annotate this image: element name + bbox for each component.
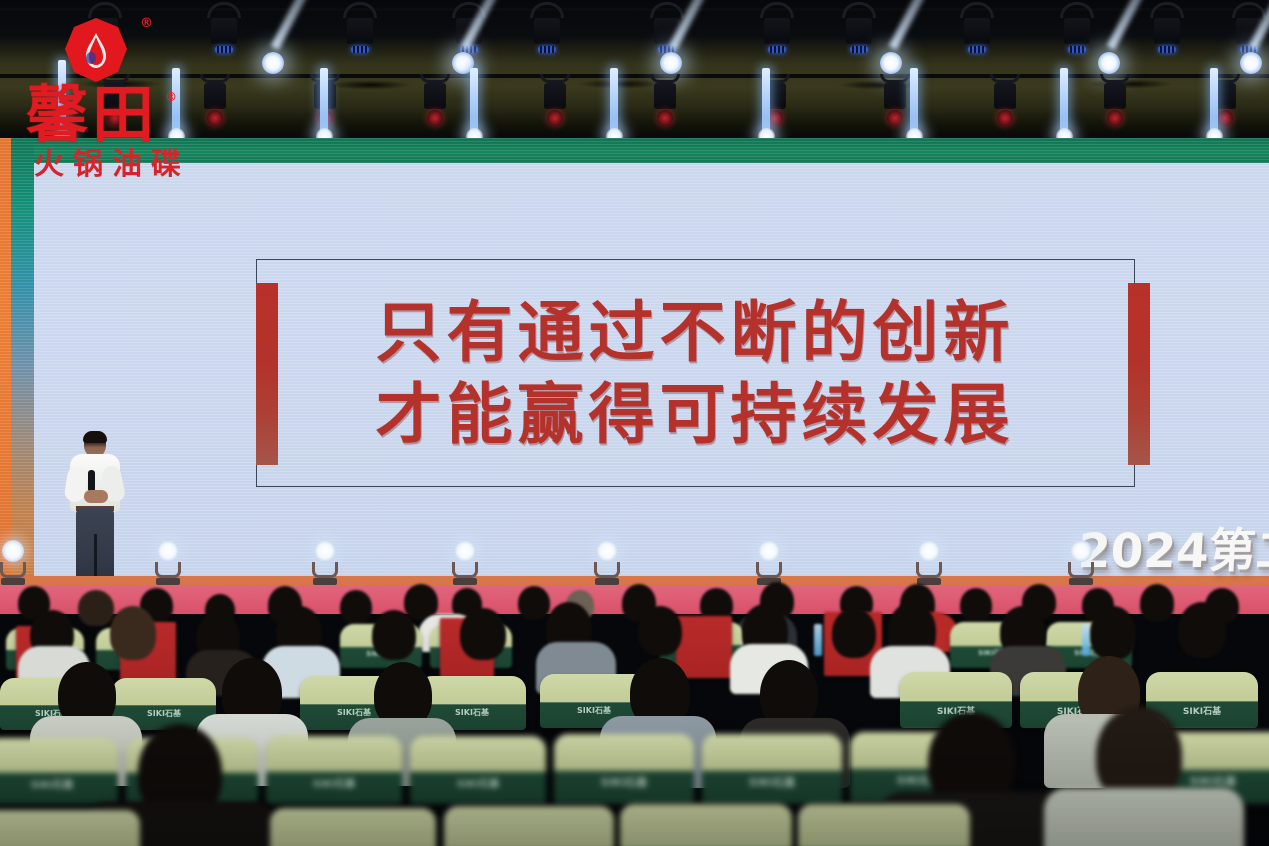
seat-brand-text: SIKI石基 <box>749 774 796 790</box>
registered-mark-icon: ® <box>140 16 153 31</box>
brand-watermark: ® 馨田 ® 火锅油碟 <box>10 4 190 194</box>
moving-head-light-icon <box>960 2 994 53</box>
auditorium-seat: SIKI石基 <box>554 734 694 804</box>
screen-top-green-band <box>0 138 1269 163</box>
audience-head <box>1090 606 1136 660</box>
par-light-icon <box>540 74 570 126</box>
microphone-icon <box>88 470 95 492</box>
seat-brand-text: SIKI石基 <box>31 776 73 791</box>
audience-head <box>638 606 682 656</box>
auditorium-seat: SIKI石基 <box>410 736 546 804</box>
beam-light-icon <box>660 52 682 74</box>
led-tube-light-icon <box>610 68 618 134</box>
brand-subtitle-text: 火锅油碟 <box>34 150 190 180</box>
slide-headline-line-1: 只有通过不断的创新 <box>376 300 1015 366</box>
par-light-icon <box>200 74 230 126</box>
audience-head <box>1140 584 1174 622</box>
auditorium-seat <box>0 810 140 846</box>
seat-brand-text: SIKI石基 <box>601 774 648 790</box>
seat-brand-text: SIKI石基 <box>455 707 489 718</box>
par-light-icon <box>990 74 1020 126</box>
audience-head <box>460 608 506 660</box>
seat-brand-text: SIKI石基 <box>1183 704 1221 717</box>
par-light-icon <box>650 74 680 126</box>
led-tube-light-icon <box>910 68 918 134</box>
water-bottle <box>1082 624 1090 656</box>
auditorium-seat: SIKI石基 <box>266 736 402 804</box>
moving-head-light-icon <box>842 2 876 53</box>
auditorium-seat: SIKI石基 <box>0 738 118 804</box>
auditorium-seat: SIKI石基 <box>702 734 842 804</box>
audience-head <box>518 586 550 620</box>
moving-head-light-icon <box>1150 2 1184 53</box>
seat-brand-text: SIKI石基 <box>1190 773 1237 789</box>
beam-light-icon <box>1240 52 1262 74</box>
screen-left-orange-strip <box>0 138 11 580</box>
led-tube-light-icon <box>1060 68 1068 134</box>
moving-head-light-icon <box>760 2 794 53</box>
auditorium-seat <box>798 804 970 846</box>
slide-accent-bar-right <box>1128 283 1150 465</box>
audience-head <box>110 606 156 660</box>
auditorium-seat <box>270 808 436 846</box>
led-tube-light-icon <box>1210 68 1218 134</box>
led-tube-light-icon <box>320 68 328 134</box>
moving-head-light-icon <box>343 2 377 53</box>
slide-accent-bar-left <box>256 283 278 465</box>
beam-light-icon <box>1098 52 1120 74</box>
seat-brand-text: SIKI石基 <box>313 775 355 790</box>
led-tube-light-icon <box>470 68 478 134</box>
audience-head <box>1178 602 1226 658</box>
audience-head <box>832 608 876 658</box>
led-tube-light-icon <box>762 68 770 134</box>
beam-light-icon <box>262 52 284 74</box>
par-light-icon <box>1100 74 1130 126</box>
seat-brand-text: SIKI石基 <box>337 707 371 718</box>
seat-brand-text: SIKI石基 <box>147 708 181 719</box>
audience-head <box>960 588 992 622</box>
cable-bundle <box>0 76 1269 98</box>
seat-brand-text: SIKI石基 <box>457 775 499 790</box>
speaker-hands <box>84 490 108 503</box>
ceiling-truss-zone <box>0 0 1269 140</box>
seat-brand-text: SIKI石基 <box>577 705 611 716</box>
slide-headline-line-2: 才能赢得可持续发展 <box>376 382 1015 448</box>
speaker-hair <box>83 431 107 443</box>
beam-light-icon <box>880 52 902 74</box>
audience-head <box>372 610 416 660</box>
auditorium-seat <box>620 804 792 846</box>
conference-stage-photo: 只有通过不断的创新 才能赢得可持续发展 ® 馨田 ® 火锅油碟 2024第 <box>0 0 1269 846</box>
audience-head <box>78 590 114 626</box>
audience-area: SIKI石基 SIKI石基 SIKI石基 SIKI石基 SIKI石基 SIKI石… <box>0 566 1269 846</box>
water-bottle <box>814 624 822 656</box>
par-light-icon <box>420 74 450 126</box>
moving-head-light-icon <box>207 2 241 53</box>
audience-torso <box>1044 788 1244 846</box>
audience-head <box>340 590 372 624</box>
gift-bag <box>676 616 732 678</box>
registered-mark-secondary-icon: ® <box>165 90 177 104</box>
slide-text-block: 只有通过不断的创新 才能赢得可持续发展 <box>300 274 1090 474</box>
brand-name-text: 馨田 <box>26 84 158 146</box>
moving-head-light-icon <box>530 2 564 53</box>
par-light-icon <box>880 74 910 126</box>
moving-head-light-icon <box>1060 2 1094 53</box>
auditorium-seat <box>444 806 614 846</box>
